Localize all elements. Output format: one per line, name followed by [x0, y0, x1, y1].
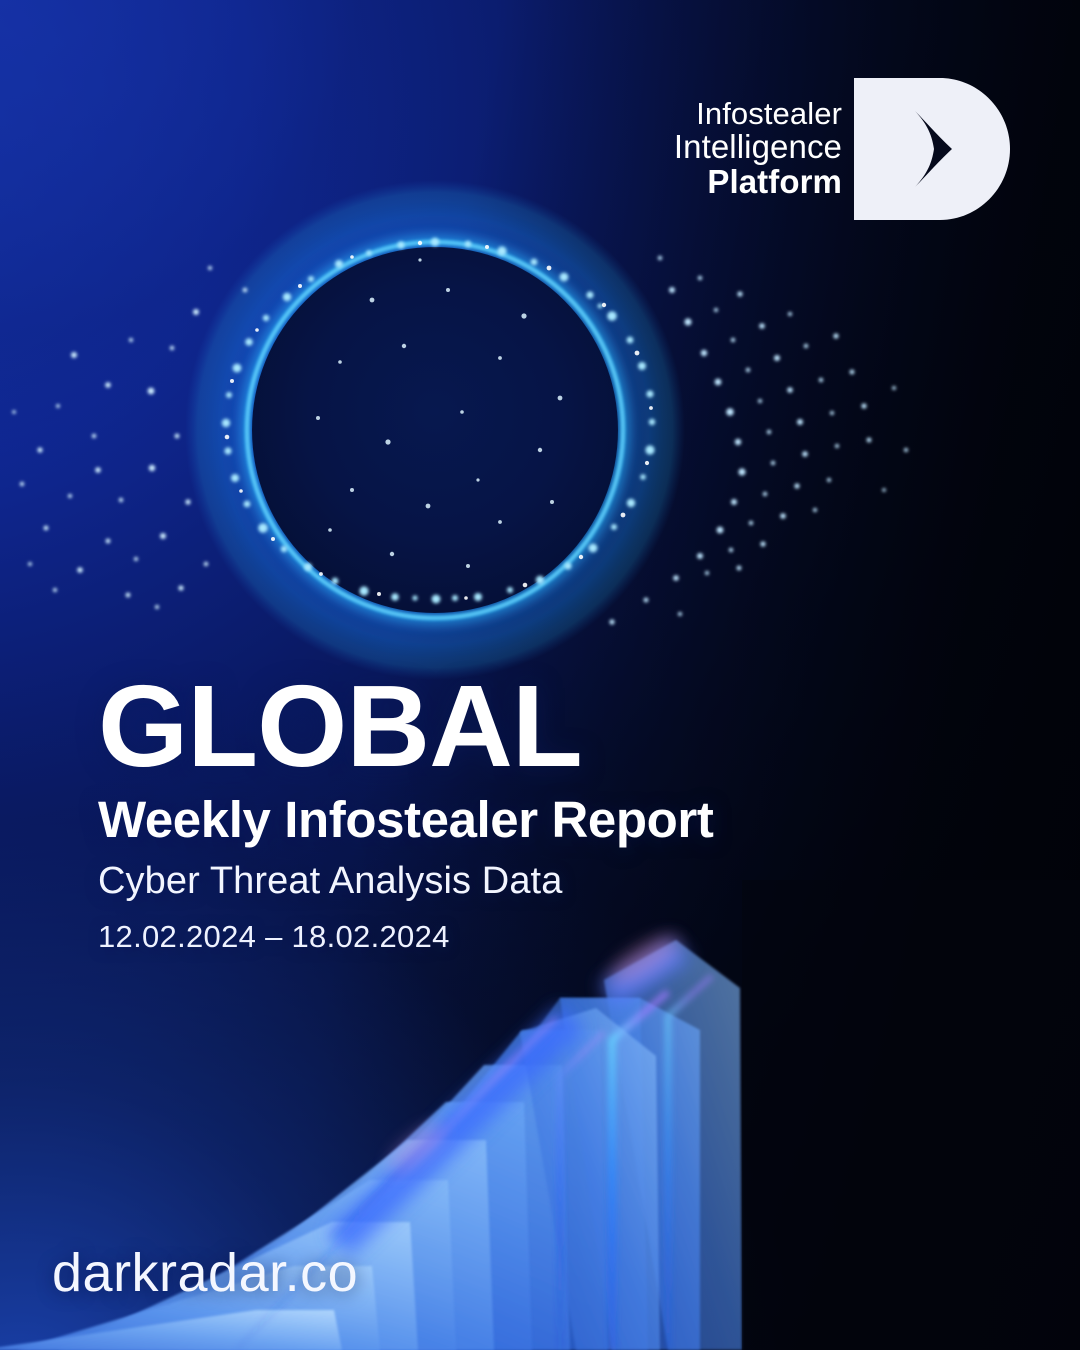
title-block: GLOBAL Weekly Infostealer Report Cyber T…	[98, 672, 713, 954]
report-description: Cyber Threat Analysis Data	[98, 861, 713, 903]
report-subtitle: Weekly Infostealer Report	[98, 793, 713, 847]
brand-line-intelligence: Intelligence	[674, 130, 842, 165]
brand-logo-wordmark: Infostealer Intelligence Platform	[674, 98, 842, 201]
report-date-range: 12.02.2024 – 18.02.2024	[98, 920, 713, 954]
page-title: GLOBAL	[98, 672, 713, 781]
brand-line-infostealer: Infostealer	[696, 98, 842, 131]
brand-line-platform: Platform	[707, 165, 842, 200]
brand-logo[interactable]: Infostealer Intelligence Platform	[674, 78, 1010, 220]
darkradar-d-mark-icon	[854, 78, 1010, 220]
report-cover-poster: Infostealer Intelligence Platform GLOBAL…	[0, 0, 1080, 1350]
footer-website-url[interactable]: darkradar.co	[52, 1242, 358, 1304]
